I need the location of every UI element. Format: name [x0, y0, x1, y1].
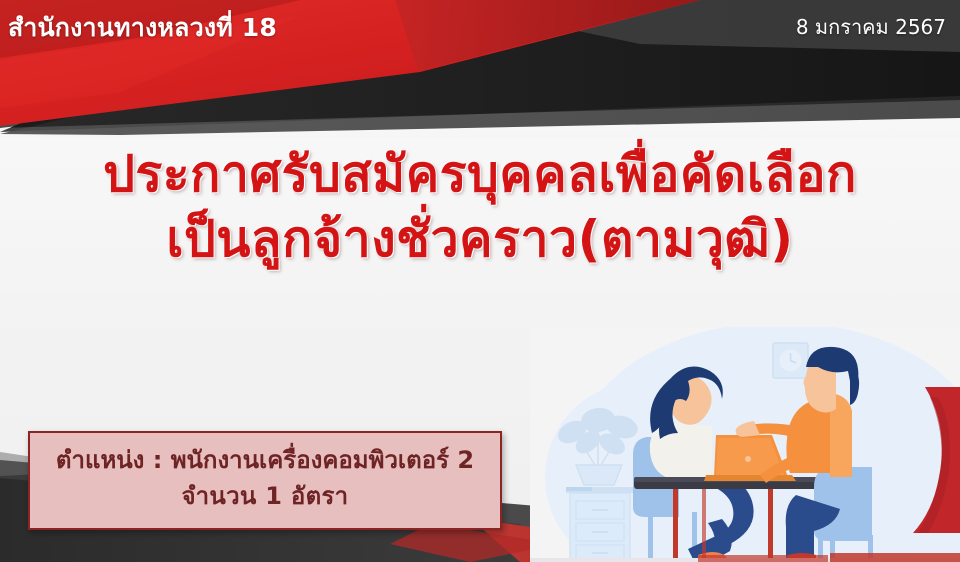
organization-name: สำนักงานทางหลวงที่ 18 — [8, 8, 277, 48]
position-title-line: ตำแหน่ง : พนักงานเครื่องคอมพิวเตอร์ 2 — [44, 442, 486, 478]
announcement-date: 8 มกราคม 2567 — [796, 11, 946, 43]
job-interview-illustration — [530, 327, 960, 562]
announcement-poster: สำนักงานทางหลวงที่ 18 8 มกราคม 2567 ประก… — [0, 0, 960, 562]
position-info-box: ตำแหน่ง : พนักงานเครื่องคอมพิวเตอร์ 2 จำ… — [28, 431, 502, 530]
wall-clock-icon — [773, 343, 808, 378]
position-count-line: จำนวน 1 อัตรา — [44, 478, 486, 514]
